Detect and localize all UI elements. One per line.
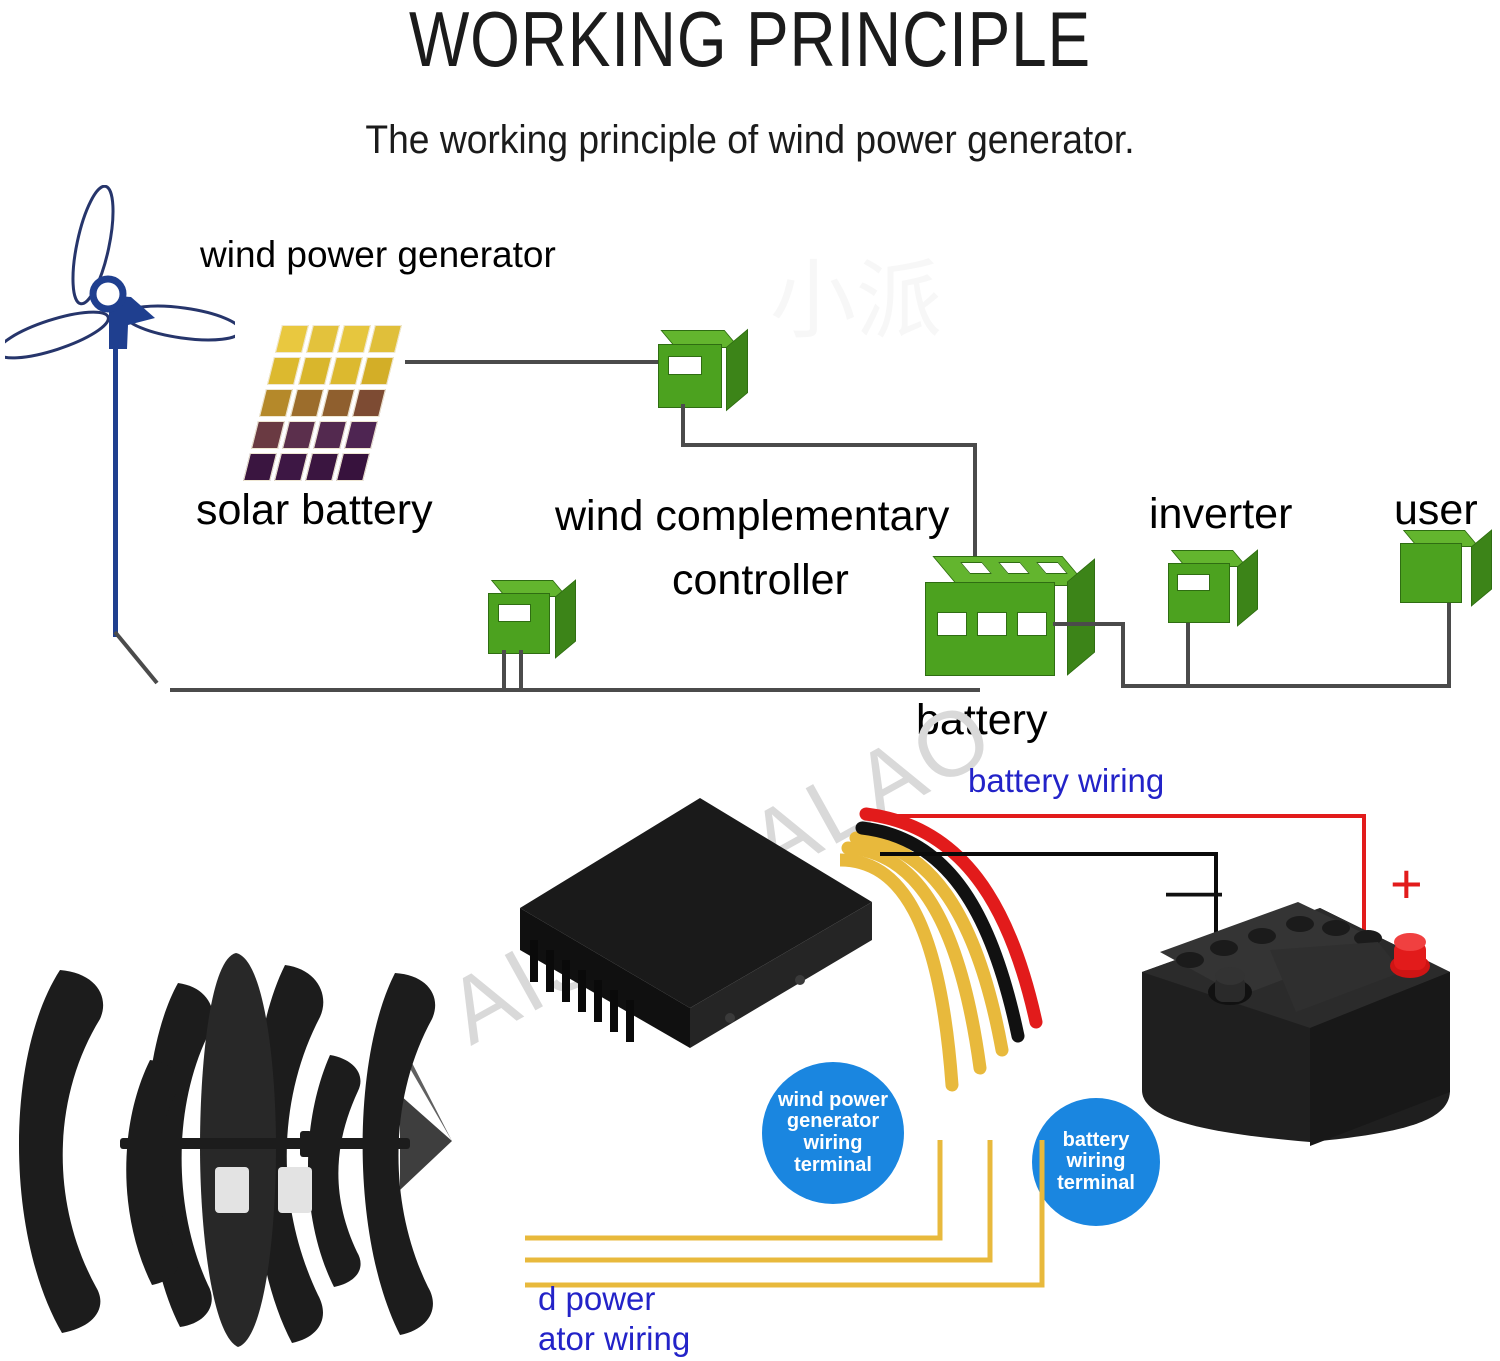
wire-into-battery-top	[973, 443, 977, 568]
controller-output-wires	[840, 800, 1100, 1100]
wire-battery-to-inverter	[1053, 622, 1125, 626]
wire-bottom-bus	[170, 688, 980, 692]
wire-inverter-bus	[1121, 684, 1451, 688]
controller-product-photo	[500, 790, 890, 1090]
page-title: WORKING PRINCIPLE	[135, 0, 1365, 85]
battery-negative-lead-h	[880, 852, 1218, 856]
turbine-lead-diagonal	[113, 630, 173, 690]
wind-turbine-icon	[5, 185, 235, 415]
page-subtitle: The working principle of wind power gene…	[53, 118, 1448, 163]
ghost-watermark: 小派	[770, 230, 942, 355]
wire-controller-right	[681, 443, 977, 447]
battery-positive-lead-h	[884, 814, 1366, 818]
wire-inverter-drop	[1121, 622, 1125, 688]
inverter-icon	[1168, 550, 1258, 626]
user-icon	[1400, 530, 1492, 606]
label-solar-battery: solar battery	[196, 486, 433, 535]
label-inverter: inverter	[1149, 490, 1292, 539]
solar-panel-icon	[242, 325, 402, 485]
battery-icon	[925, 556, 1095, 676]
wire-solar-to-controller	[405, 360, 660, 364]
label-controller-line1: wind complementary	[555, 492, 949, 541]
label-user: user	[1394, 486, 1478, 535]
label-battery-wiring: battery wiring	[968, 762, 1164, 800]
wire-controller-down	[681, 404, 685, 445]
wire-user-leg	[1447, 600, 1451, 688]
label-controller-line2: controller	[672, 556, 849, 605]
label-wind-power-generator: wind power generator	[200, 234, 556, 276]
turbine-pole	[113, 345, 118, 637]
wire-junction-leg-1	[502, 650, 506, 692]
controller-icon	[658, 330, 748, 408]
label-generator-wiring-line2: ator wiring	[538, 1320, 690, 1358]
wire-junction-leg-2	[519, 650, 523, 692]
wire-inverter-leg	[1186, 620, 1190, 688]
junction-box-icon	[488, 580, 576, 658]
label-generator-wiring-line1: d power	[538, 1280, 655, 1318]
battery-product-photo	[1120, 880, 1470, 1170]
vertical-wind-turbine-photo	[0, 935, 520, 1356]
